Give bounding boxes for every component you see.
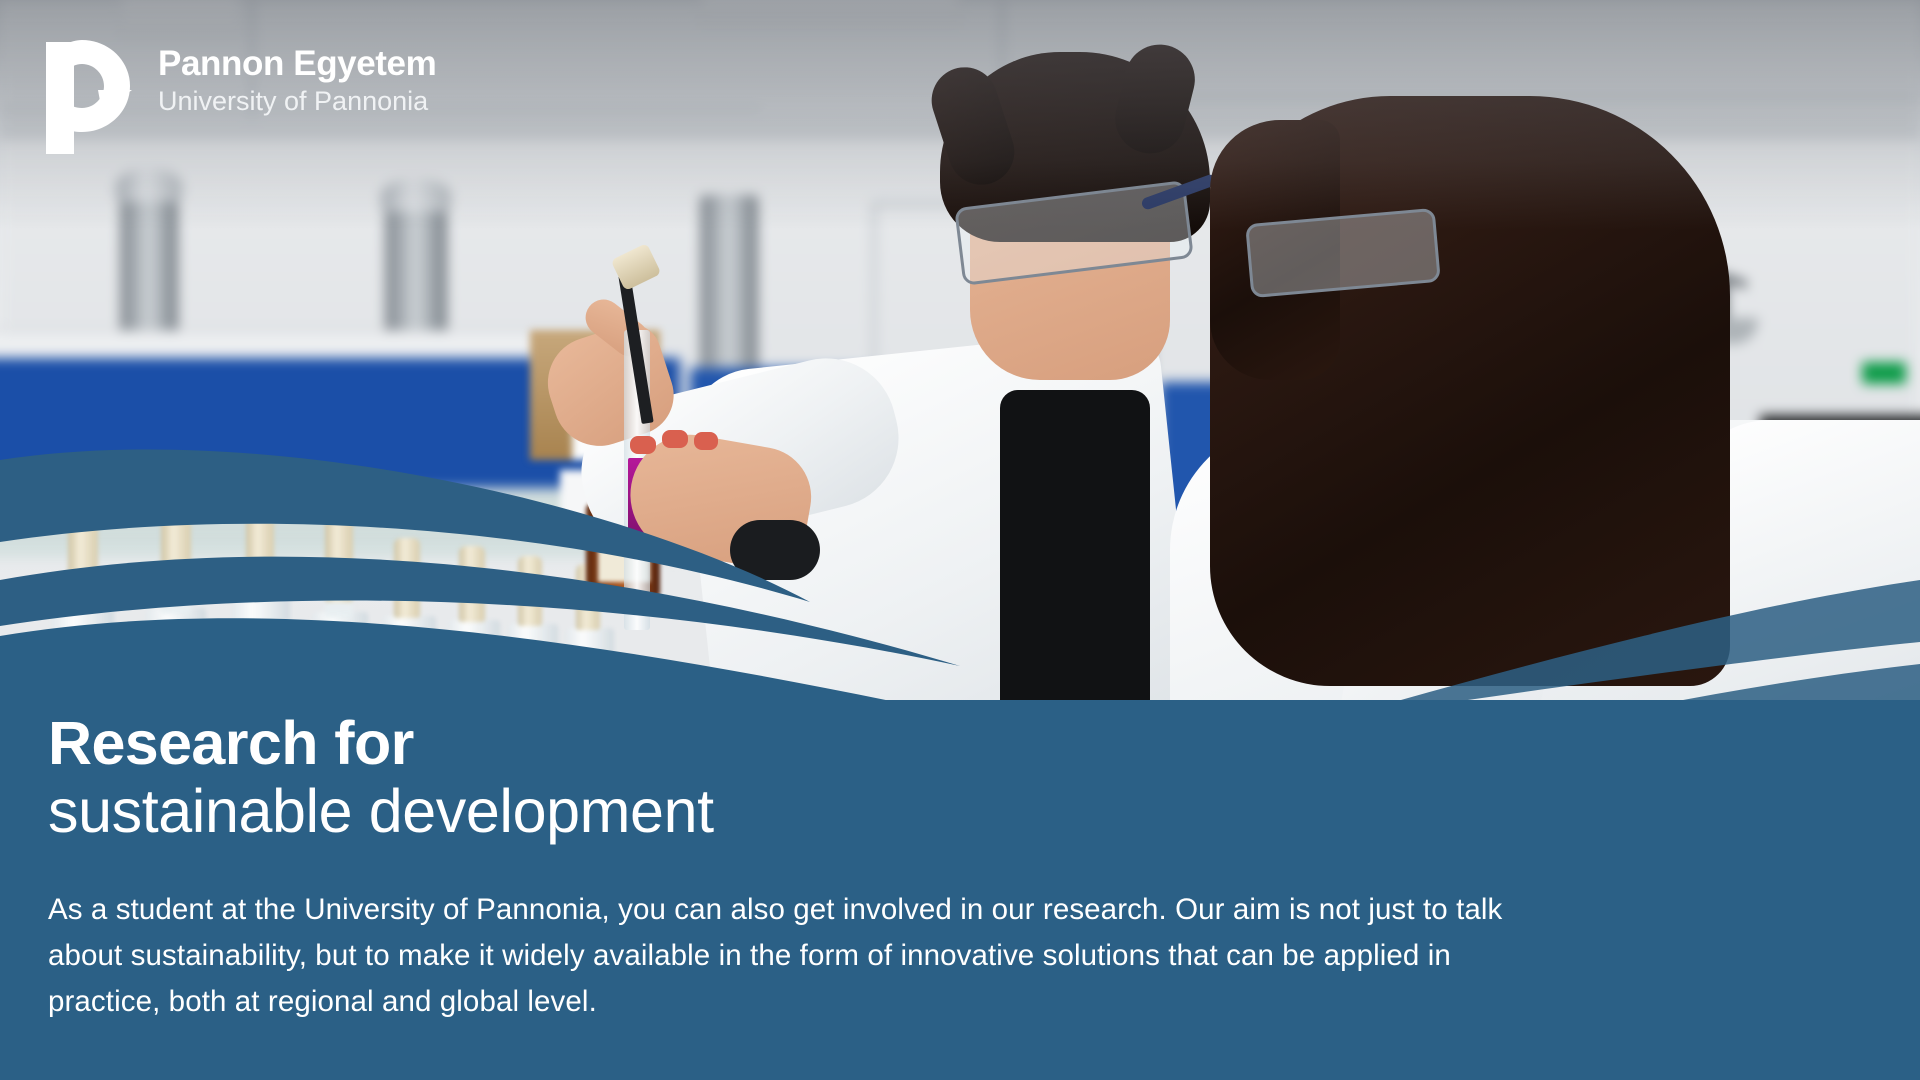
pannon-p-logomark <box>40 34 136 154</box>
bottle-stopper <box>518 556 542 626</box>
hero-paragraph: As a student at the University of Pannon… <box>48 887 1510 1024</box>
bottle-stopper <box>394 538 420 618</box>
logo-wordmark: Pannon Egyetem University of Pannonia <box>158 34 436 119</box>
bottle-stopper <box>68 490 98 590</box>
reagent-label <box>126 656 188 704</box>
reagent-label <box>374 658 428 704</box>
bottle-stopper <box>459 546 485 622</box>
research-hero-banner: Pannon Egyetem University of Pannonia Re… <box>0 0 1920 1080</box>
bottle-stopper <box>161 498 191 596</box>
female-nail <box>694 432 718 450</box>
bottle-stopper <box>325 516 353 602</box>
female-wrist-scrunchie <box>730 520 820 580</box>
reagent-label <box>300 654 358 702</box>
headline-secondary: sustainable development <box>48 777 1858 845</box>
bottle-stopper <box>246 470 274 582</box>
wordmark-english: University of Pannonia <box>158 85 436 119</box>
female-nail <box>630 436 656 454</box>
reagent-label <box>34 656 98 702</box>
hero-copy: Research for sustainable development As … <box>48 712 1858 1024</box>
reagent-label <box>218 650 278 700</box>
probe-cap <box>611 243 662 291</box>
female-nail <box>662 430 688 448</box>
headline-primary: Research for <box>48 712 1858 775</box>
university-logo[interactable]: Pannon Egyetem University of Pannonia <box>40 34 436 154</box>
wordmark-hungarian: Pannon Egyetem <box>158 46 436 83</box>
